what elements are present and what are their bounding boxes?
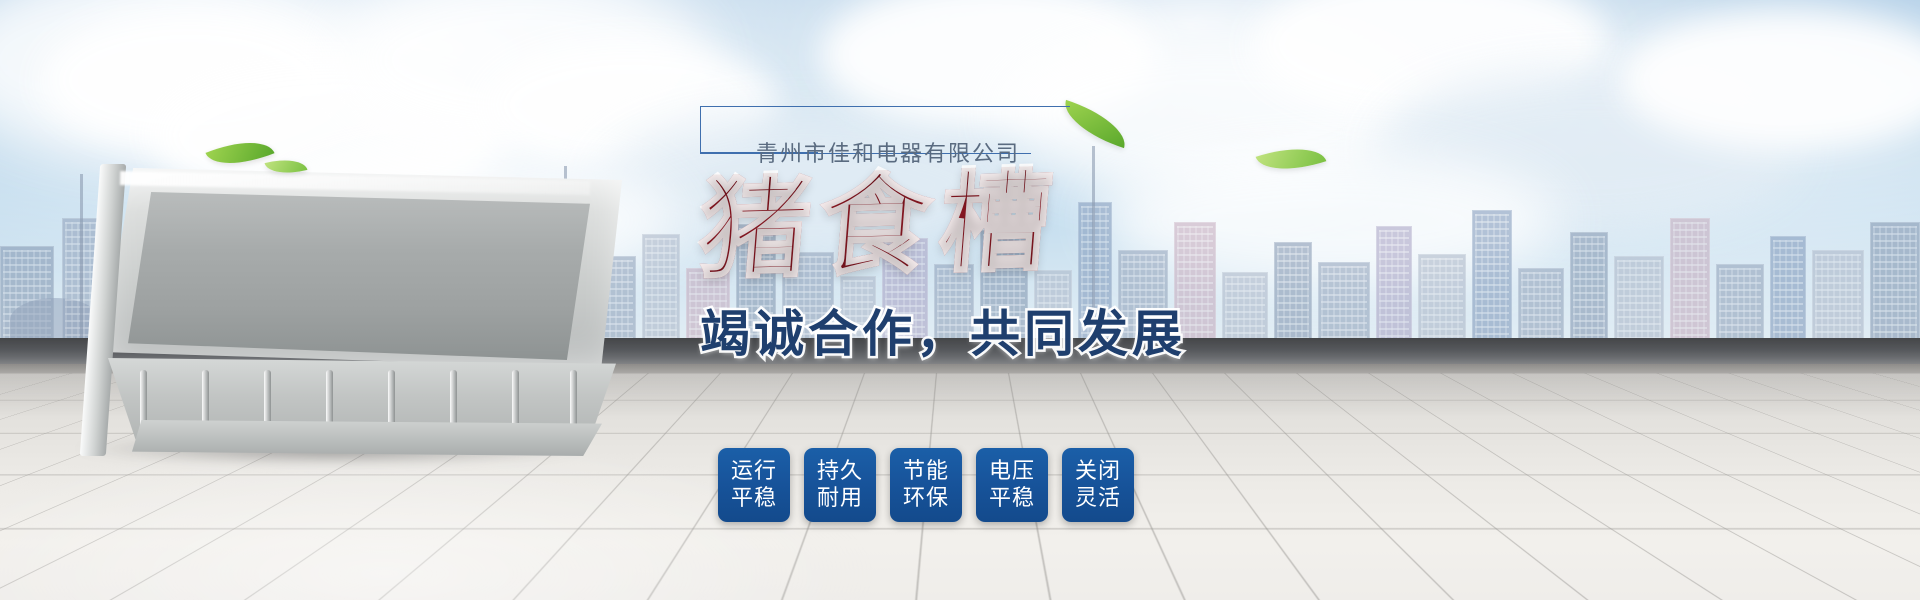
badge-line-2: 平稳 — [989, 485, 1035, 512]
badge-line-1: 运行 — [731, 458, 777, 485]
frame-top-extension — [1030, 106, 1070, 107]
company-name-frame: 青州市佳和电器有限公司 — [700, 96, 1260, 166]
badge-line-2: 灵活 — [1075, 485, 1121, 512]
badge-line-2: 环保 — [903, 485, 949, 512]
feeder-interior — [128, 192, 590, 360]
headline-block: 青州市佳和电器有限公司 猪食槽 竭诚合作，共同发展 — [700, 96, 1260, 366]
feature-badge[interactable]: 电压 平稳 — [976, 448, 1048, 522]
badge-line-1: 持久 — [817, 458, 863, 485]
badge-line-1: 电压 — [989, 458, 1035, 485]
product-photo-pig-feeder — [80, 158, 640, 458]
badge-line-1: 节能 — [903, 458, 949, 485]
badge-line-2: 平稳 — [731, 485, 777, 512]
feature-badge[interactable]: 运行 平稳 — [718, 448, 790, 522]
feeder-base-pan — [132, 420, 602, 456]
feature-badge[interactable]: 持久 耐用 — [804, 448, 876, 522]
slogan-text: 竭诚合作，共同发展 — [700, 294, 1260, 366]
badge-line-2: 耐用 — [817, 485, 863, 512]
feature-badge-list: 运行 平稳 持久 耐用 节能 环保 电压 平稳 关闭 灵活 — [718, 448, 1134, 522]
main-title-text: 猪食槽 — [695, 165, 1065, 284]
badge-line-1: 关闭 — [1075, 458, 1121, 485]
feature-badge[interactable]: 节能 环保 — [890, 448, 962, 522]
feature-badge[interactable]: 关闭 灵活 — [1062, 448, 1134, 522]
main-title: 猪食槽 — [700, 170, 1260, 288]
promo-banner: 青州市佳和电器有限公司 猪食槽 竭诚合作，共同发展 运行 平稳 持久 耐用 节能… — [0, 0, 1920, 600]
